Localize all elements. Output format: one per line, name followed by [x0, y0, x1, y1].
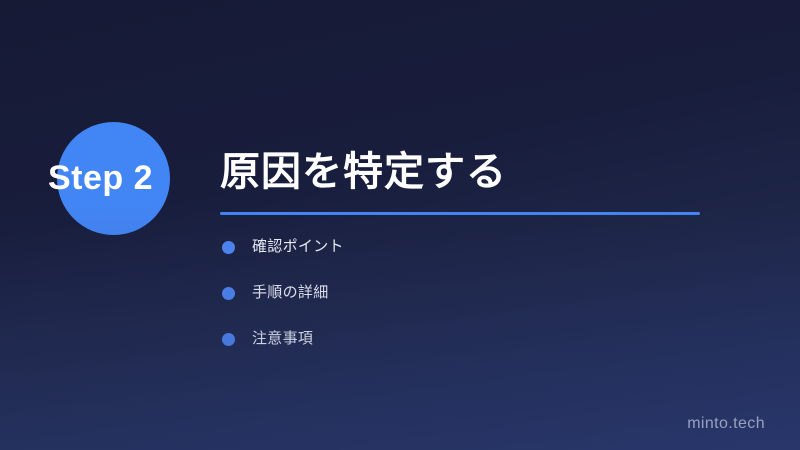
list-item-label: 確認ポイント: [252, 238, 344, 256]
footer-brand-label: minto.tech: [687, 415, 765, 433]
list-item: 確認ポイント: [220, 238, 344, 256]
bullet-dot-icon: [222, 333, 235, 346]
bullet-dot-icon: [222, 241, 235, 254]
list-item: 注意事項: [220, 330, 344, 348]
list-item-label: 注意事項: [252, 330, 313, 348]
slide-title: 原因を特定する: [220, 148, 507, 196]
bullet-list: 確認ポイント 手順の詳細 注意事項: [220, 238, 344, 348]
title-underline-divider: [220, 212, 700, 215]
step-number-label: Step 2: [48, 157, 208, 199]
bullet-dot-icon: [222, 287, 235, 300]
list-item-label: 手順の詳細: [252, 284, 329, 302]
presentation-slide: Step 2 原因を特定する 確認ポイント 手順の詳細 注意事項 minto.t…: [0, 0, 800, 450]
list-item: 手順の詳細: [220, 284, 344, 302]
